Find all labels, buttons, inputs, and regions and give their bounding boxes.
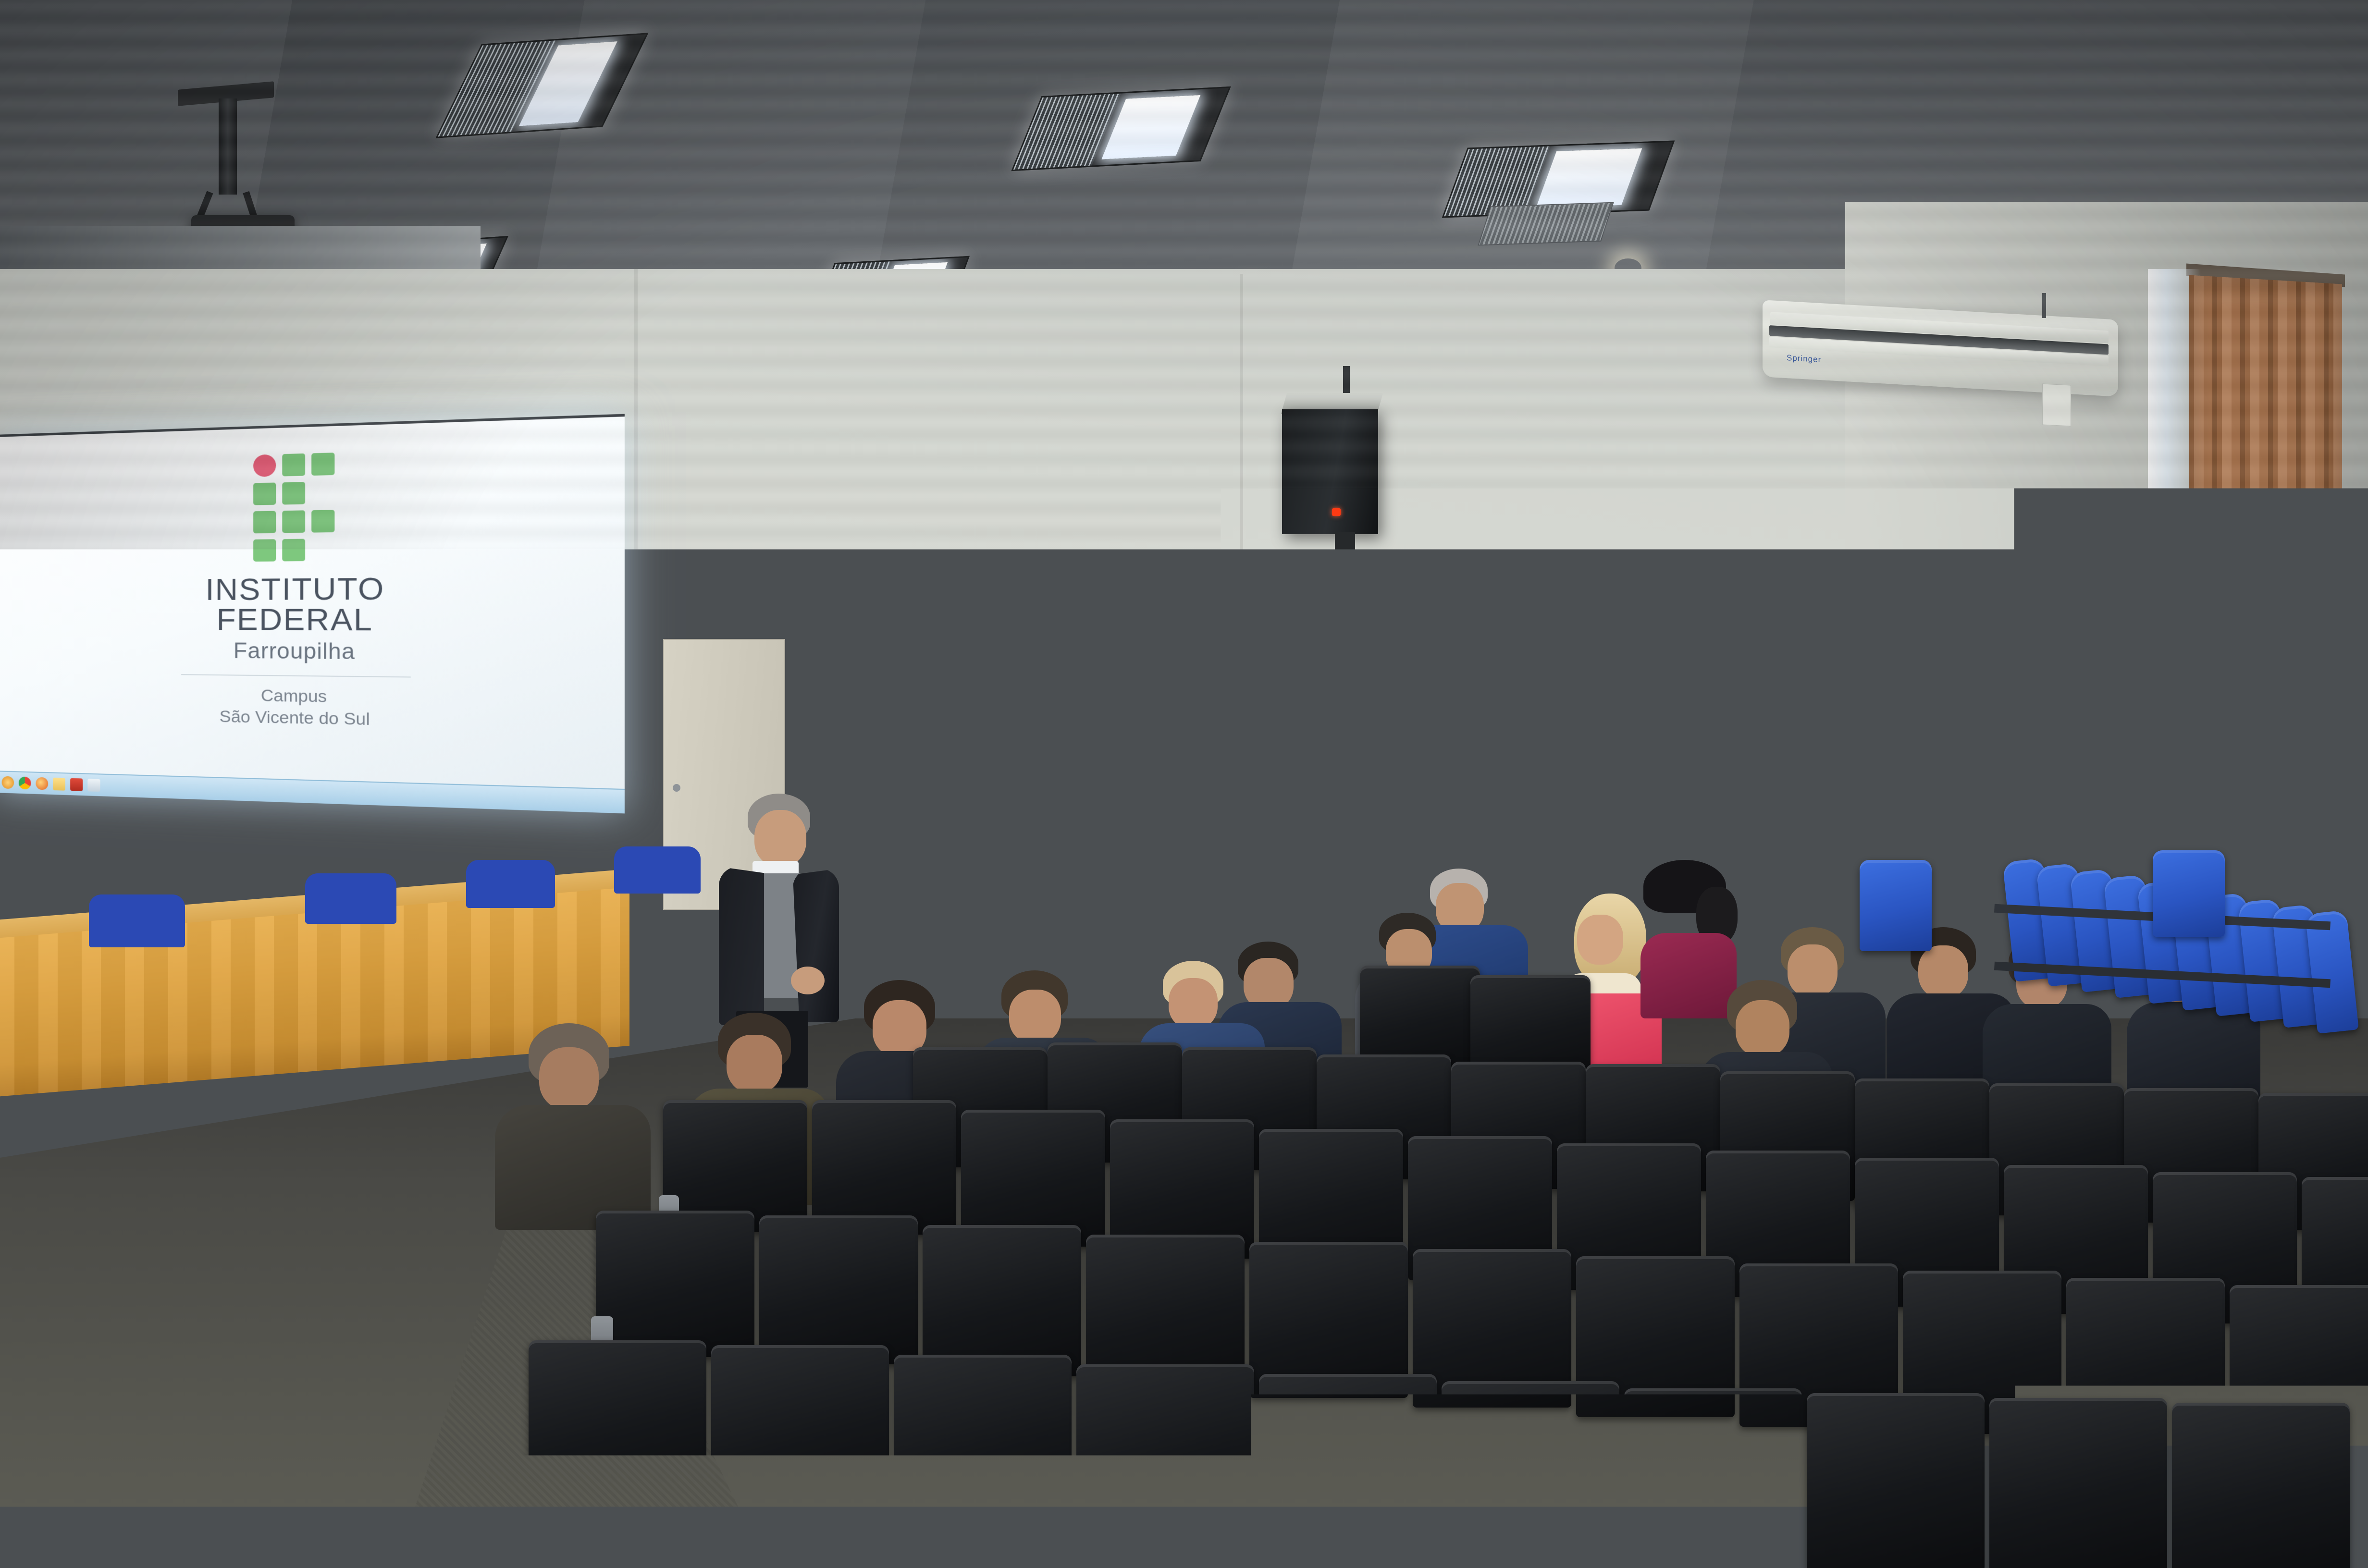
wall-outlet[interactable] [1715, 764, 1732, 785]
start-orb-icon[interactable] [2, 776, 14, 789]
presenter-head [754, 810, 806, 867]
window-latch[interactable] [1445, 842, 1467, 858]
stage-chair-back [466, 860, 555, 908]
speaker-wall-bracket [1335, 532, 1355, 555]
auditorium-chair[interactable] [812, 1100, 956, 1235]
stage-chair[interactable] [466, 860, 555, 908]
attendee-head [727, 1035, 782, 1093]
projection-screen: INSTITUTO FEDERAL Farroupilha Campus São… [0, 414, 625, 814]
attendee-head [539, 1047, 599, 1110]
speaker-power-led [1332, 508, 1341, 516]
window-mullion-horizontal [1349, 845, 1515, 854]
blue-chair[interactable] [2153, 850, 2225, 937]
ac-conduit [2042, 293, 2046, 318]
wifi-sign: Wi-Fi [1554, 629, 1586, 664]
slide-divider [181, 674, 411, 677]
green-wall-sign: SALA DOS PROFESSORES [1858, 733, 1912, 758]
auditorium-chair[interactable] [596, 1211, 754, 1357]
projector-drop-pole [219, 98, 237, 195]
folder-icon[interactable] [53, 778, 65, 791]
projected-slide: INSTITUTO FEDERAL Farroupilha Campus São… [0, 416, 625, 813]
cigarette-icon [1700, 713, 1715, 724]
auditorium-chair[interactable] [529, 1340, 706, 1504]
stage-chair[interactable] [305, 873, 396, 924]
slide-title-line2: FEDERAL [205, 604, 384, 635]
attendee-head [1918, 945, 1968, 998]
exit-sign: SAÍDA [1333, 600, 1383, 619]
ceiling-air-vent [1478, 202, 1614, 246]
stage-chair[interactable] [614, 846, 701, 894]
slide-campus: Campus São Vicente do Sul [220, 685, 370, 730]
stage-chair-back [305, 873, 396, 924]
vertical-blinds[interactable] [2189, 275, 2342, 919]
green-sign-body: SALA DOS PROFESSORES [1861, 736, 1909, 755]
chrome-icon[interactable] [19, 777, 31, 790]
slide-logo-block: INSTITUTO FEDERAL Farroupilha Campus São… [161, 450, 433, 731]
window-mullion-horizontal [1349, 686, 1515, 695]
attendee-front-left-1 [495, 1023, 654, 1230]
auditorium-chair[interactable] [2220, 1508, 2368, 1568]
stage-chair[interactable] [89, 894, 185, 947]
auditorium-chair[interactable] [1360, 966, 1480, 1066]
auditorium-chair[interactable] [951, 1489, 1158, 1568]
ac-brand-label: Springer [1787, 353, 1821, 365]
slide-subtitle: Farroupilha [234, 638, 355, 664]
attendee-head [1736, 1000, 1789, 1057]
instituto-federal-logo-icon [253, 453, 334, 562]
attendee-head [1009, 990, 1061, 1043]
wall-outlet[interactable] [1696, 812, 1714, 835]
speaker-hanger-rod [1343, 366, 1350, 393]
green-sign-line2: PROFESSORES [1864, 746, 1905, 752]
chart-icon[interactable] [87, 779, 100, 792]
slide-title: INSTITUTO FEDERAL [205, 574, 384, 635]
blue-chair[interactable] [1860, 860, 1932, 951]
auditorium-chair[interactable] [759, 1215, 918, 1364]
ceiling-light-troffer [1011, 86, 1231, 171]
slide-campus-name: São Vicente do Sul [220, 706, 370, 730]
attendee-head [1577, 915, 1623, 965]
stage-chair-back [614, 846, 701, 894]
wifi-icon: Wi-Fi [1559, 640, 1580, 653]
door-knob[interactable] [673, 784, 680, 792]
slide-campus-label: Campus [220, 685, 370, 708]
auditorium-chair[interactable] [2009, 1506, 2215, 1568]
attendee-head [1169, 978, 1218, 1029]
window-sticker [1434, 823, 1471, 834]
presenter-hands [791, 967, 825, 994]
green-sign-line1: SALA DOS [1872, 739, 1898, 746]
wall-seam [634, 269, 638, 797]
auditorium-chair[interactable] [923, 1225, 1081, 1376]
auditorium-chair[interactable] [1374, 1499, 1581, 1568]
pdf-icon[interactable] [70, 778, 83, 791]
wall-seam [1240, 274, 1243, 754]
auditorium-photo: INSTITUTO FEDERAL Farroupilha Campus São… [0, 0, 2368, 1568]
slide-title-line1: INSTITUTO [205, 574, 384, 604]
auditorium-chair[interactable] [740, 1484, 947, 1568]
auditorium-chair[interactable] [1586, 1501, 1792, 1568]
stage-chair-back [89, 894, 185, 947]
auditorium-chair[interactable] [1797, 1504, 2004, 1568]
wall-speaker [1282, 409, 1378, 534]
no-smoking-sign [1691, 702, 1725, 736]
auditorium-chair[interactable] [1163, 1494, 1369, 1568]
wall-outlet[interactable] [1691, 653, 1709, 675]
firefox-icon[interactable] [36, 777, 48, 790]
presenter-jacket-right [793, 869, 839, 1022]
ac-wall-junction-box [2042, 383, 2071, 426]
